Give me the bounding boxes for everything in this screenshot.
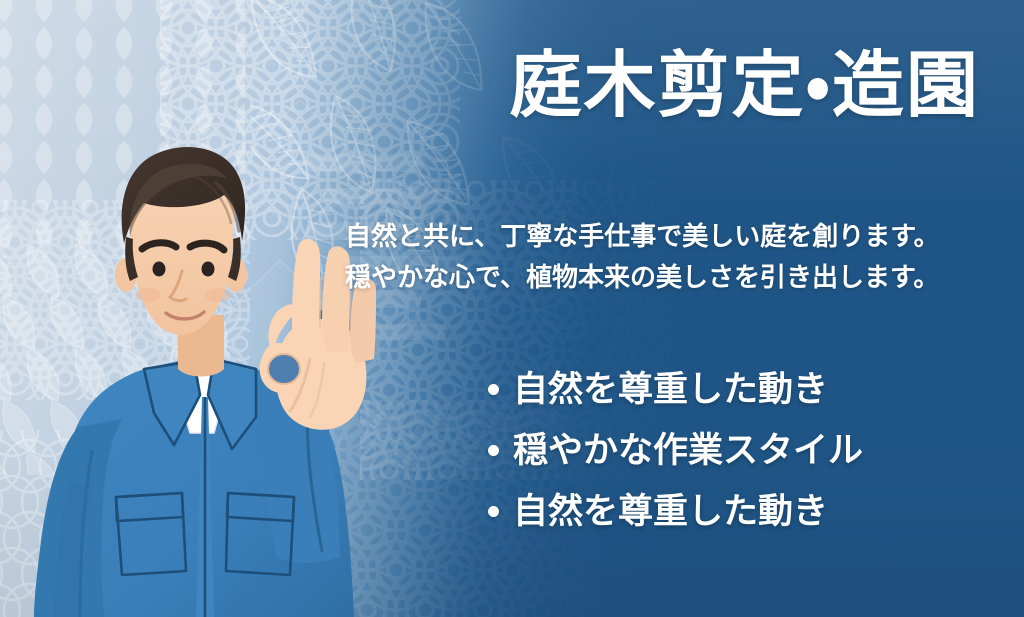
eye-right [202,262,215,277]
eye-left [153,262,166,277]
head [115,147,247,335]
worker-illustration: 作業着を着た男性がOKサインをしているイラスト [18,145,418,617]
hero-banner: 作業着を着た男性がOKサインをしているイラスト [0,0,1024,617]
